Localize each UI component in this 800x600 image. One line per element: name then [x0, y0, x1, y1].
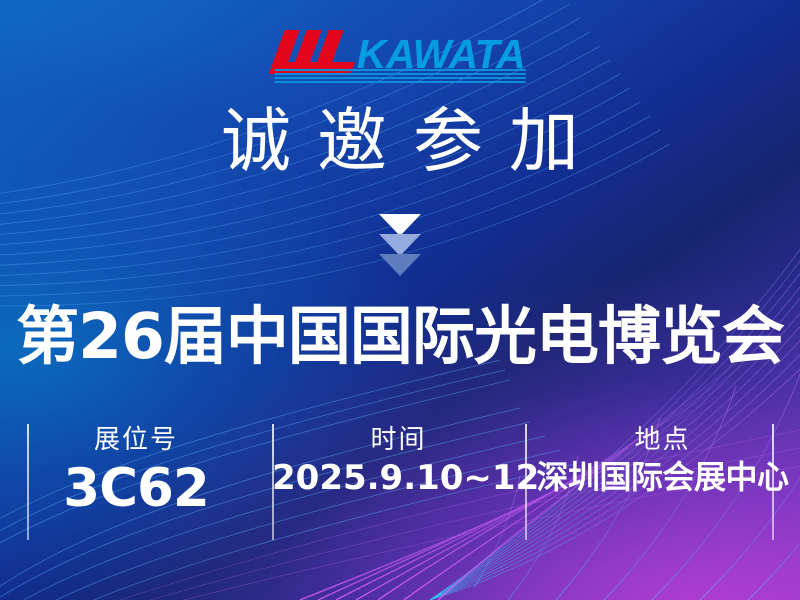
- chevron-down-icon-1: [379, 214, 421, 236]
- booth-value: 3C62: [0, 461, 272, 517]
- down-arrows: [0, 214, 800, 274]
- booth-label: 展位号: [0, 426, 272, 455]
- place-value: 深圳国际会展中心: [525, 461, 800, 495]
- info-column-booth: 展位号 3C62: [0, 426, 272, 516]
- headline: 诚邀参加: [0, 106, 800, 176]
- time-value: 2025.9.10~12: [272, 461, 525, 497]
- logo-underline-rules: [275, 67, 526, 83]
- chevron-down-icon-2: [379, 234, 421, 256]
- logo-wordmark: KAWATA: [357, 35, 526, 74]
- info-column-place: 地点 深圳国际会展中心: [525, 426, 800, 494]
- chevron-down-icon-3: [379, 254, 421, 276]
- place-label: 地点: [525, 426, 800, 455]
- time-label: 时间: [272, 426, 525, 455]
- kawata-logo: KAWATA: [275, 24, 526, 74]
- page-title: 第26届中国国际光电博览会: [0, 302, 800, 373]
- invitation-poster: KAWATA 诚邀参加 第26届中国国际光电博览会 展位号 3C62 时间 20…: [0, 0, 800, 600]
- info-column-time: 时间 2025.9.10~12: [272, 426, 525, 496]
- info-bar: 展位号 3C62 时间 2025.9.10~12 地点 深圳国际会展中心: [0, 426, 800, 538]
